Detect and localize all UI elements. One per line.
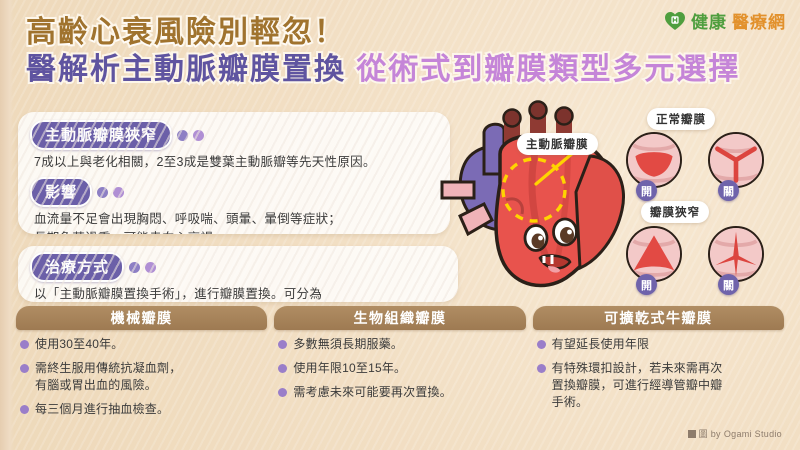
panel-aortic-stenosis: 主動脈瓣膜狹窄 7成以上與老化相關，2至3成是雙葉主動脈瓣等先天性原因。 影響 …	[18, 112, 450, 234]
decor-dot-icon	[113, 187, 124, 198]
credit-prefix: 圖 by	[699, 427, 721, 440]
badge-open: 開	[636, 180, 657, 201]
bullet-dot-icon	[278, 388, 287, 397]
list-item: 多數無須長期服藥。	[278, 336, 519, 353]
column-bullets: 多數無須長期服藥。 使用年限10至15年。 需考慮未來可能要再次置換。	[274, 324, 525, 401]
column-bullets: 有望延長使用年限 有特殊環扣設計，若未來需再次 置換瓣膜，可進行經導管瓣中瓣 手…	[533, 324, 784, 411]
panelA-text-1: 7成以上與老化相關，2至3成是雙葉主動脈瓣等先天性原因。	[18, 150, 450, 172]
valve-normal-open-icon	[626, 132, 682, 188]
bullet-dot-icon	[278, 364, 287, 373]
list-item: 有望延長使用年限	[537, 336, 778, 353]
badge-closed: 關	[718, 274, 739, 295]
column-bullets: 使用30至40年。 需終生服用傳統抗凝血劑， 有腦或胃出血的風險。 每三個月進行…	[16, 324, 267, 418]
badge-open: 開	[636, 274, 657, 295]
list-item-text: 使用年限10至15年。	[293, 360, 406, 377]
column-mechanical-valve: 機械瓣膜 使用30至40年。 需終生服用傳統抗凝血劑， 有腦或胃出血的風險。 每…	[16, 306, 267, 438]
list-item-text: 需終生服用傳統抗凝血劑， 有腦或胃出血的風險。	[35, 360, 181, 394]
list-item-text: 需考慮未來可能要再次置換。	[293, 384, 452, 401]
credit-studio: Ogami Studio	[724, 429, 782, 439]
bullet-dot-icon	[537, 364, 546, 373]
bullet-dot-icon	[20, 340, 29, 349]
valve-type-columns: 機械瓣膜 使用30至40年。 需終生服用傳統抗凝血劑， 有腦或胃出血的風險。 每…	[16, 306, 784, 438]
list-item-text: 有特殊環扣設計，若未來需再次 置換瓣膜，可進行經導管瓣中瓣 手術。	[552, 360, 723, 411]
headline-line-2: 醫解析主動脈瓣膜置換 從術式到瓣膜類型多元選擇	[26, 53, 740, 87]
list-item: 需考慮未來可能要再次置換。	[278, 384, 519, 401]
decor-dot-icon	[177, 130, 188, 141]
list-item: 需終生服用傳統抗凝血劑， 有腦或胃出血的風險。	[20, 360, 261, 394]
list-item-text: 使用30至40年。	[35, 336, 124, 353]
callout-valve-stenosis: 瓣膜狹窄	[641, 201, 709, 223]
column-biological-tissue-valve: 生物組織瓣膜 多數無須長期服藥。 使用年限10至15年。 需考慮未來可能要再次置…	[274, 306, 525, 438]
panel-treatment: 治療方式 以「主動脈瓣膜置換手術」，進行瓣膜置換。可分為	[18, 246, 458, 302]
decor-dot-icon	[145, 262, 156, 273]
headline-line-1: 高齡心衰風險別輕忽！	[26, 16, 740, 50]
decor-dot-icon	[193, 130, 204, 141]
label-treatment-method: 治療方式	[30, 252, 124, 282]
callout-aortic-valve: 主動脈瓣膜	[517, 133, 598, 155]
bullet-dot-icon	[20, 405, 29, 414]
headline-block: 高齡心衰風險別輕忽！ 醫解析主動脈瓣膜置換 從術式到瓣膜類型多元選擇	[26, 16, 740, 86]
decor-dot-icon	[129, 262, 140, 273]
panelA-heading-row-1: 主動脈瓣膜狹窄	[18, 120, 450, 150]
list-item: 每三個月進行抽血檢查。	[20, 401, 261, 418]
list-item: 有特殊環扣設計，若未來需再次 置換瓣膜，可進行經導管瓣中瓣 手術。	[537, 360, 778, 411]
image-credit-icon	[688, 430, 696, 438]
list-item: 使用30至40年。	[20, 336, 261, 353]
list-item-text: 多數無須長期服藥。	[293, 336, 403, 353]
list-item-text: 每三個月進行抽血檢查。	[35, 401, 169, 418]
column-expandable-dry-bovine-valve: 可擴乾式牛瓣膜 有望延長使用年限 有特殊環扣設計，若未來需再次 置換瓣膜，可進行…	[533, 306, 784, 438]
label-impact: 影響	[30, 177, 92, 207]
valve-normal-closed-icon	[708, 132, 764, 188]
panelB-text: 以「主動脈瓣膜置換手術」，進行瓣膜置換。可分為	[18, 282, 458, 302]
left-edge-band	[0, 0, 14, 450]
callout-normal-valve: 正常瓣膜	[647, 108, 715, 130]
bullet-dot-icon	[278, 340, 287, 349]
headline-line-2-main: 醫解析主動脈瓣膜置換	[26, 53, 346, 86]
illustration-area: 主動脈瓣膜 正常瓣膜 開 關 瓣膜狹窄	[440, 96, 800, 311]
decor-dot-icon	[97, 187, 108, 198]
valve-stenosis-open-icon	[626, 226, 682, 282]
headline-line-2-sub: 從術式到瓣膜類型多元選擇	[356, 53, 740, 86]
list-item-text: 有望延長使用年限	[552, 336, 650, 353]
panelA-heading-row-2: 影響	[18, 177, 450, 207]
panelB-heading-row: 治療方式	[18, 252, 458, 282]
panelA-text-2: 血流量不足會出現胸悶、呼吸喘、頭暈、暈倒等症狀； 長期負荷過重，可能走向心衰竭。	[18, 207, 450, 234]
bullet-dot-icon	[537, 340, 546, 349]
valve-stenosis-closed-icon	[708, 226, 764, 282]
bullet-dot-icon	[20, 364, 29, 373]
credit-attribution: 圖 by Ogami Studio	[688, 427, 782, 440]
list-item: 使用年限10至15年。	[278, 360, 519, 377]
label-aortic-stenosis: 主動脈瓣膜狹窄	[30, 120, 172, 150]
badge-closed: 關	[718, 180, 739, 201]
infographic-page: 健康 醫療網 高齡心衰風險別輕忽！ 醫解析主動脈瓣膜置換 從術式到瓣膜類型多元選…	[0, 0, 800, 450]
